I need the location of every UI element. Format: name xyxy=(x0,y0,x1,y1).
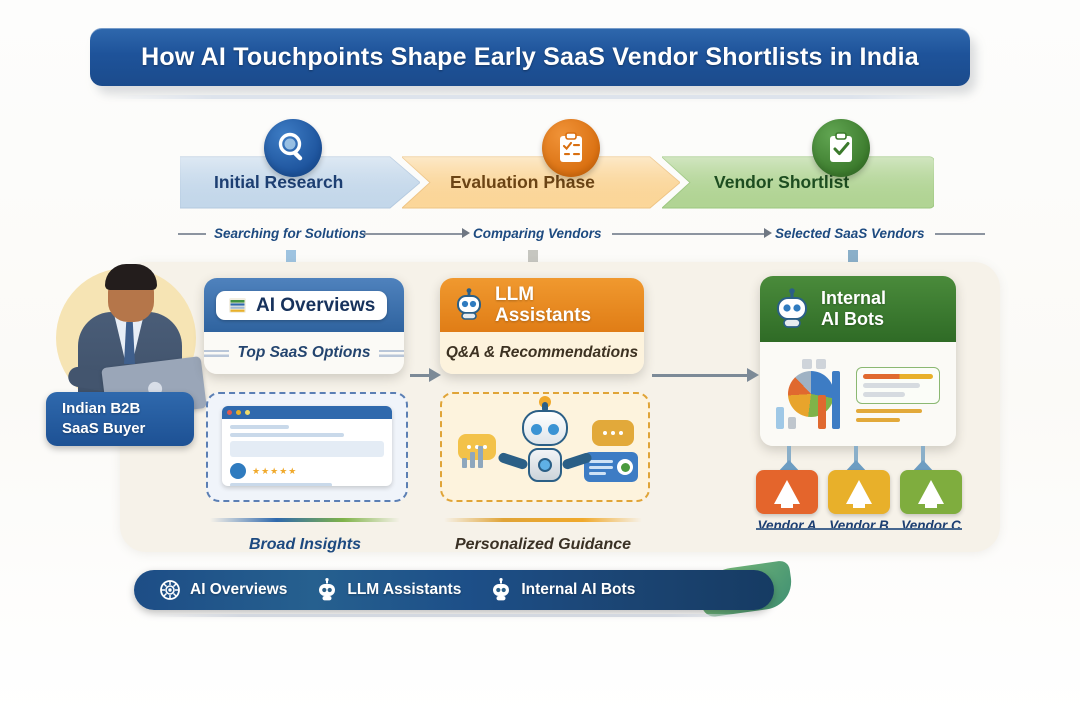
card-title: LLM Assistants xyxy=(495,284,632,326)
title-divider xyxy=(112,95,952,99)
legend-label: LLM Assistants xyxy=(347,581,461,599)
vendor-list: Vendor A Vendor B Vendor C xyxy=(756,470,962,533)
legend-item-ai-overviews[interactable]: AI Overviews xyxy=(144,570,301,610)
phase-label: Vendor Shortlist xyxy=(662,172,849,193)
vendor-underline xyxy=(756,528,962,530)
rating-stars-icon: ★★★★★ xyxy=(252,466,297,477)
connector-line xyxy=(935,233,985,235)
arrow-right-icon xyxy=(462,228,470,238)
phase-sublabel-2: Comparing Vendors xyxy=(473,222,602,244)
vendor-label: Vendor C xyxy=(901,518,961,533)
card-ai-overviews[interactable]: AI Overviews Top SaaS Options xyxy=(204,278,404,374)
legend-divider xyxy=(150,614,760,617)
connector-line xyxy=(612,233,764,235)
card-subtitle: Top SaaS Options xyxy=(238,344,371,362)
phase-evaluation[interactable]: Evaluation Phase xyxy=(402,155,680,210)
card-title: Internal AI Bots xyxy=(821,288,886,330)
robot-head-icon xyxy=(452,288,486,322)
avatar xyxy=(230,463,246,479)
legend-item-llm-assistants[interactable]: LLM Assistants xyxy=(301,570,475,610)
legend-label: AI Overviews xyxy=(190,581,287,599)
robot-assistant-illustration xyxy=(440,392,650,502)
card-subtitle: Q&A & Recommendations xyxy=(446,344,638,362)
connector-arrow xyxy=(652,374,748,377)
card-internal-ai-bots[interactable]: Internal AI Bots xyxy=(760,276,956,446)
persona-label-line2: SaaS Buyer xyxy=(62,419,194,439)
caption-divider xyxy=(444,518,642,522)
connector-arrow xyxy=(410,374,430,377)
building-icon xyxy=(756,470,818,514)
building-icon xyxy=(828,470,890,514)
card-illustration xyxy=(760,342,956,446)
phase-banner: Initial Research Evaluation Phase xyxy=(180,155,990,210)
magnifier-icon xyxy=(264,119,322,177)
phase-sublabel-1: Searching for Solutions xyxy=(214,222,366,244)
caption-broad-insights: Broad Insights xyxy=(206,534,404,556)
building-icon xyxy=(900,470,962,514)
phase-sublabel-3: Selected SaaS Vendors xyxy=(775,222,925,244)
window-maximize-dot xyxy=(245,410,250,415)
clipboard-check-icon xyxy=(812,119,870,177)
phase-initial-research[interactable]: Initial Research xyxy=(180,155,420,210)
robot-head-icon xyxy=(489,578,513,602)
card-subtitle-row: Q&A & Recommendations xyxy=(440,332,644,374)
ai-network-icon xyxy=(158,578,182,602)
robot-head-icon xyxy=(315,578,339,602)
info-card-icon xyxy=(584,452,638,482)
card-title-line1: Internal xyxy=(821,288,886,308)
dash-decoration xyxy=(379,350,404,357)
dash-decoration xyxy=(204,350,229,357)
card-subtitle-row: Top SaaS Options xyxy=(204,332,404,374)
vendor-item[interactable]: Vendor A xyxy=(756,470,818,533)
robot-head-icon xyxy=(772,288,812,330)
vendor-item[interactable]: Vendor B xyxy=(828,470,890,533)
card-title-line2: AI Bots xyxy=(821,309,884,329)
persona-label-badge: Indian B2B SaaS Buyer xyxy=(46,392,194,446)
vendor-item[interactable]: Vendor C xyxy=(900,470,962,533)
connector-line xyxy=(364,233,462,235)
window-minimize-dot xyxy=(236,410,241,415)
bar-chart-icon xyxy=(462,444,488,468)
robot-figure-icon xyxy=(514,402,576,492)
card-llm-assistants[interactable]: LLM Assistants Q&A & Recommendations xyxy=(440,278,644,374)
vendor-label: Vendor A xyxy=(757,518,816,533)
article-list-icon xyxy=(228,296,247,315)
caption-personalized-guidance: Personalized Guidance xyxy=(440,534,646,556)
chat-bubble-icon xyxy=(592,420,634,446)
analytics-dashboard-illustration xyxy=(774,352,942,436)
vendor-label: Vendor B xyxy=(829,518,889,533)
legend-item-internal-ai-bots[interactable]: Internal AI Bots xyxy=(475,570,649,610)
legend-bar: AI Overviews LLM Assistants xyxy=(134,570,774,610)
window-close-dot xyxy=(227,410,232,415)
card-header: LLM Assistants xyxy=(440,278,644,332)
card-header: AI Overviews xyxy=(204,278,404,332)
clipboard-list-icon xyxy=(542,119,600,177)
card-title: AI Overviews xyxy=(256,295,375,316)
persona-label-line1: Indian B2B xyxy=(62,399,194,419)
phase-label: Initial Research xyxy=(180,172,343,193)
browser-review-illustration: ★★★★★ xyxy=(206,392,408,502)
page-title-text: How AI Touchpoints Shape Early SaaS Vend… xyxy=(141,43,919,72)
legend-label: Internal AI Bots xyxy=(521,581,635,599)
caption-divider xyxy=(210,518,400,522)
connector-line xyxy=(178,233,206,235)
arrow-right-icon xyxy=(764,228,772,238)
card-header: Internal AI Bots xyxy=(760,276,956,342)
page-title: How AI Touchpoints Shape Early SaaS Vend… xyxy=(90,28,970,86)
infographic-canvas: How AI Touchpoints Shape Early SaaS Vend… xyxy=(0,0,1080,720)
phase-vendor-shortlist[interactable]: Vendor Shortlist xyxy=(662,155,934,210)
